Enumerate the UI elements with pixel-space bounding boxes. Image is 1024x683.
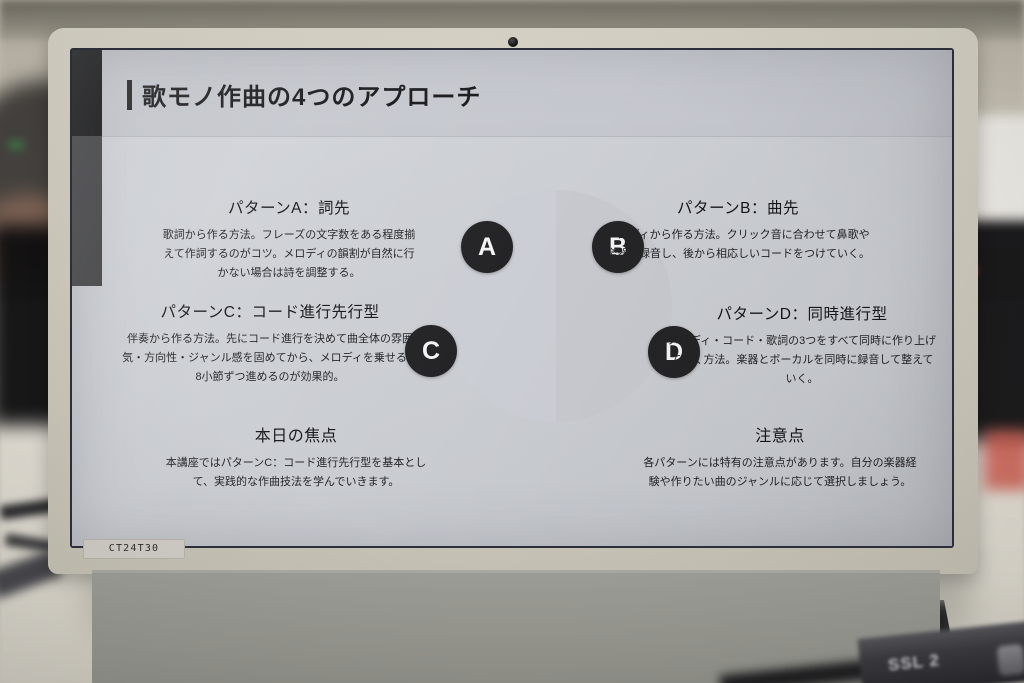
presentation-slide: 歌モノ作曲の4つのアプローチ A B C D パターンA：詞先 歌詞から作る方法…: [72, 50, 952, 546]
block-pattern-b-body: メロディから作る方法。クリック音に合わせて鼻歌や楽器で録音し、後から相応しいコー…: [604, 226, 872, 264]
block-pattern-c-heading: パターンC：コード進行先行型: [120, 300, 420, 322]
slide-title: 歌モノ作曲の4つのアプローチ: [142, 77, 481, 112]
monitor: 歌モノ作曲の4つのアプローチ A B C D パターンA：詞先 歌詞から作る方法…: [48, 28, 978, 574]
badge-a[interactable]: A: [461, 221, 513, 273]
block-caution-heading: 注意点: [642, 422, 918, 446]
block-pattern-d: パターンD：同時進行型 メロディ・コード・歌詞の3つをすべて同時に作り上げていく…: [666, 302, 938, 389]
block-pattern-b: パターンB：曲先 メロディから作る方法。クリック音に合わせて鼻歌や楽器で録音し、…: [604, 196, 872, 264]
title-accent-bar: [127, 80, 132, 110]
block-focus: 本日の焦点 本講座ではパターンC：コード進行先行型を基本として、実践的な作曲技法…: [158, 422, 434, 492]
photo-scene: 歌モノ作曲の4つのアプローチ A B C D パターンA：詞先 歌詞から作る方法…: [0, 0, 1024, 683]
block-pattern-a-heading: パターンA：詞先: [158, 196, 420, 218]
webcam-icon: [508, 37, 518, 47]
block-pattern-c-body: 伴奏から作る方法。先にコード進行を決めて曲全体の雰囲気・方向性・ジャンル感を固め…: [120, 330, 420, 387]
monitor-model-label: CT24T30: [83, 539, 185, 559]
block-focus-heading: 本日の焦点: [158, 422, 434, 446]
background-green-light: [8, 140, 24, 150]
monitor-stand-highlight: [92, 570, 940, 573]
audio-interface-knob: [997, 644, 1024, 677]
block-pattern-d-body: メロディ・コード・歌詞の3つをすべて同時に作り上げていく方法。楽器とボーカルを同…: [666, 332, 938, 389]
block-focus-body: 本講座ではパターンC：コード進行先行型を基本として、実践的な作曲技法を学んでいき…: [158, 454, 434, 492]
block-pattern-d-heading: パターンD：同時進行型: [666, 302, 938, 324]
block-pattern-b-heading: パターンB：曲先: [604, 196, 872, 218]
slide-edge-strip-top: [72, 50, 102, 136]
block-pattern-a-body: 歌詞から作る方法。フレーズの文字数をある程度揃えて作詞するのがコツ。メロディの韻…: [158, 226, 420, 283]
slide-edge-strip-bottom: [72, 136, 102, 286]
block-pattern-a: パターンA：詞先 歌詞から作る方法。フレーズの文字数をある程度揃えて作詞するのが…: [158, 196, 420, 283]
monitor-screen[interactable]: 歌モノ作曲の4つのアプローチ A B C D パターンA：詞先 歌詞から作る方法…: [72, 50, 952, 546]
block-pattern-c: パターンC：コード進行先行型 伴奏から作る方法。先にコード進行を決めて曲全体の雰…: [120, 300, 420, 387]
block-caution: 注意点 各パターンには特有の注意点があります。自分の楽器経験や作りたい曲のジャン…: [642, 422, 918, 492]
background-red-object: [985, 430, 1024, 490]
block-caution-body: 各パターンには特有の注意点があります。自分の楽器経験や作りたい曲のジャンルに応じ…: [642, 454, 918, 492]
